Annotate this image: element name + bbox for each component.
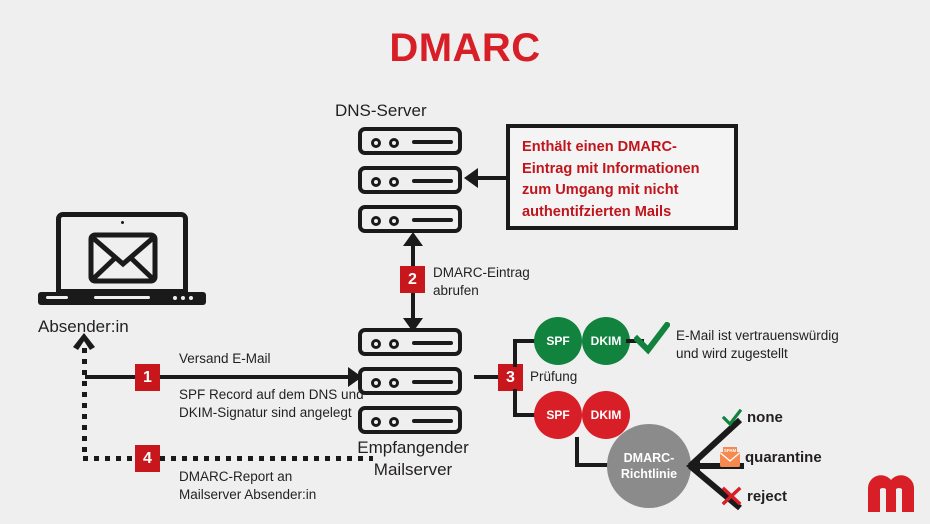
trusted-result-line-2: und wird zugestellt <box>676 345 916 363</box>
step-4-label-line-1: DMARC-Report an <box>179 468 409 486</box>
spam-envelope-icon: SPAM <box>719 446 741 473</box>
step-4-label: DMARC-Report an Mailserver Absender:in <box>179 468 409 504</box>
receiving-server-icon <box>358 328 468 436</box>
cross-icon <box>721 486 743 511</box>
laptop-mail-icon <box>38 212 206 308</box>
fail-down-line <box>575 437 579 463</box>
step-2-label: DMARC-Eintrag abrufen <box>433 264 573 300</box>
policy-outcome-quarantine-label: quarantine <box>745 449 822 466</box>
policy-label-line-1: DMARC- <box>621 450 677 466</box>
step-4-dotted-vertical-line <box>82 348 87 458</box>
step-4-arrowhead-icon <box>73 333 95 356</box>
infobox-line-4: authentifzierten Mails <box>522 202 724 224</box>
dkim-pass-label: DKIM <box>582 317 630 365</box>
step-1-badge: 1 <box>135 364 160 391</box>
none-check-icon <box>722 409 742 432</box>
fail-to-policy-line <box>575 463 611 467</box>
step-3-label: Prüfung <box>530 368 610 386</box>
envelope-icon <box>88 232 158 289</box>
trusted-result-line-1: E-Mail ist vertrauenswürdig <box>676 327 916 345</box>
spf-dkim-pass-badge: SPF DKIM <box>534 317 630 365</box>
dmarc-policy-circle: DMARC- Richtlinie <box>607 424 691 508</box>
spf-pass-label: SPF <box>534 317 582 365</box>
step-4-dotted-line <box>83 456 373 461</box>
trusted-result-label: E-Mail ist vertrauenswürdig und wird zug… <box>676 327 916 363</box>
dns-server-label: DNS-Server <box>335 100 495 122</box>
check-icon <box>634 322 670 361</box>
spf-fail-label: SPF <box>534 391 582 439</box>
sender-label: Absender:in <box>38 316 206 338</box>
infobox-arrowhead-icon <box>464 168 478 193</box>
step-4-label-line-2: Mailserver Absender:in <box>179 486 409 504</box>
infobox-connector-line <box>476 176 508 180</box>
brand-logo <box>868 472 914 512</box>
policy-label-line-2: Richtlinie <box>621 466 677 482</box>
infobox-line-3: zum Umgang mit nicht <box>522 180 724 202</box>
step-2-label-line-2: abrufen <box>433 282 573 300</box>
step-2-badge: 2 <box>400 266 425 293</box>
server-icon <box>358 127 468 235</box>
dmarc-record-infobox: Enthält einen DMARC- Eintrag mit Informa… <box>506 124 738 230</box>
step-4-badge: 4 <box>135 445 160 472</box>
step-2-label-line-1: DMARC-Eintrag <box>433 264 573 282</box>
step-3-branch-up-line <box>513 339 517 367</box>
infobox-line-1: Enthält einen DMARC- <box>522 137 724 159</box>
page-title: DMARC <box>0 26 930 71</box>
policy-outcome-none-label: none <box>747 409 783 426</box>
dmarc-diagram: DMARC DNS-Server Enthält einen DMARC- Ei… <box>0 0 930 524</box>
step-1-line <box>85 375 350 379</box>
step-2-arrowhead-up-icon <box>403 232 423 251</box>
policy-outcome-reject-label: reject <box>747 488 787 505</box>
infobox-line-2: Eintrag mit Informationen <box>522 159 724 181</box>
step-3-badge: 3 <box>498 364 523 391</box>
spf-dkim-fail-badge: SPF DKIM <box>534 391 630 439</box>
svg-text:SPAM: SPAM <box>724 448 737 453</box>
